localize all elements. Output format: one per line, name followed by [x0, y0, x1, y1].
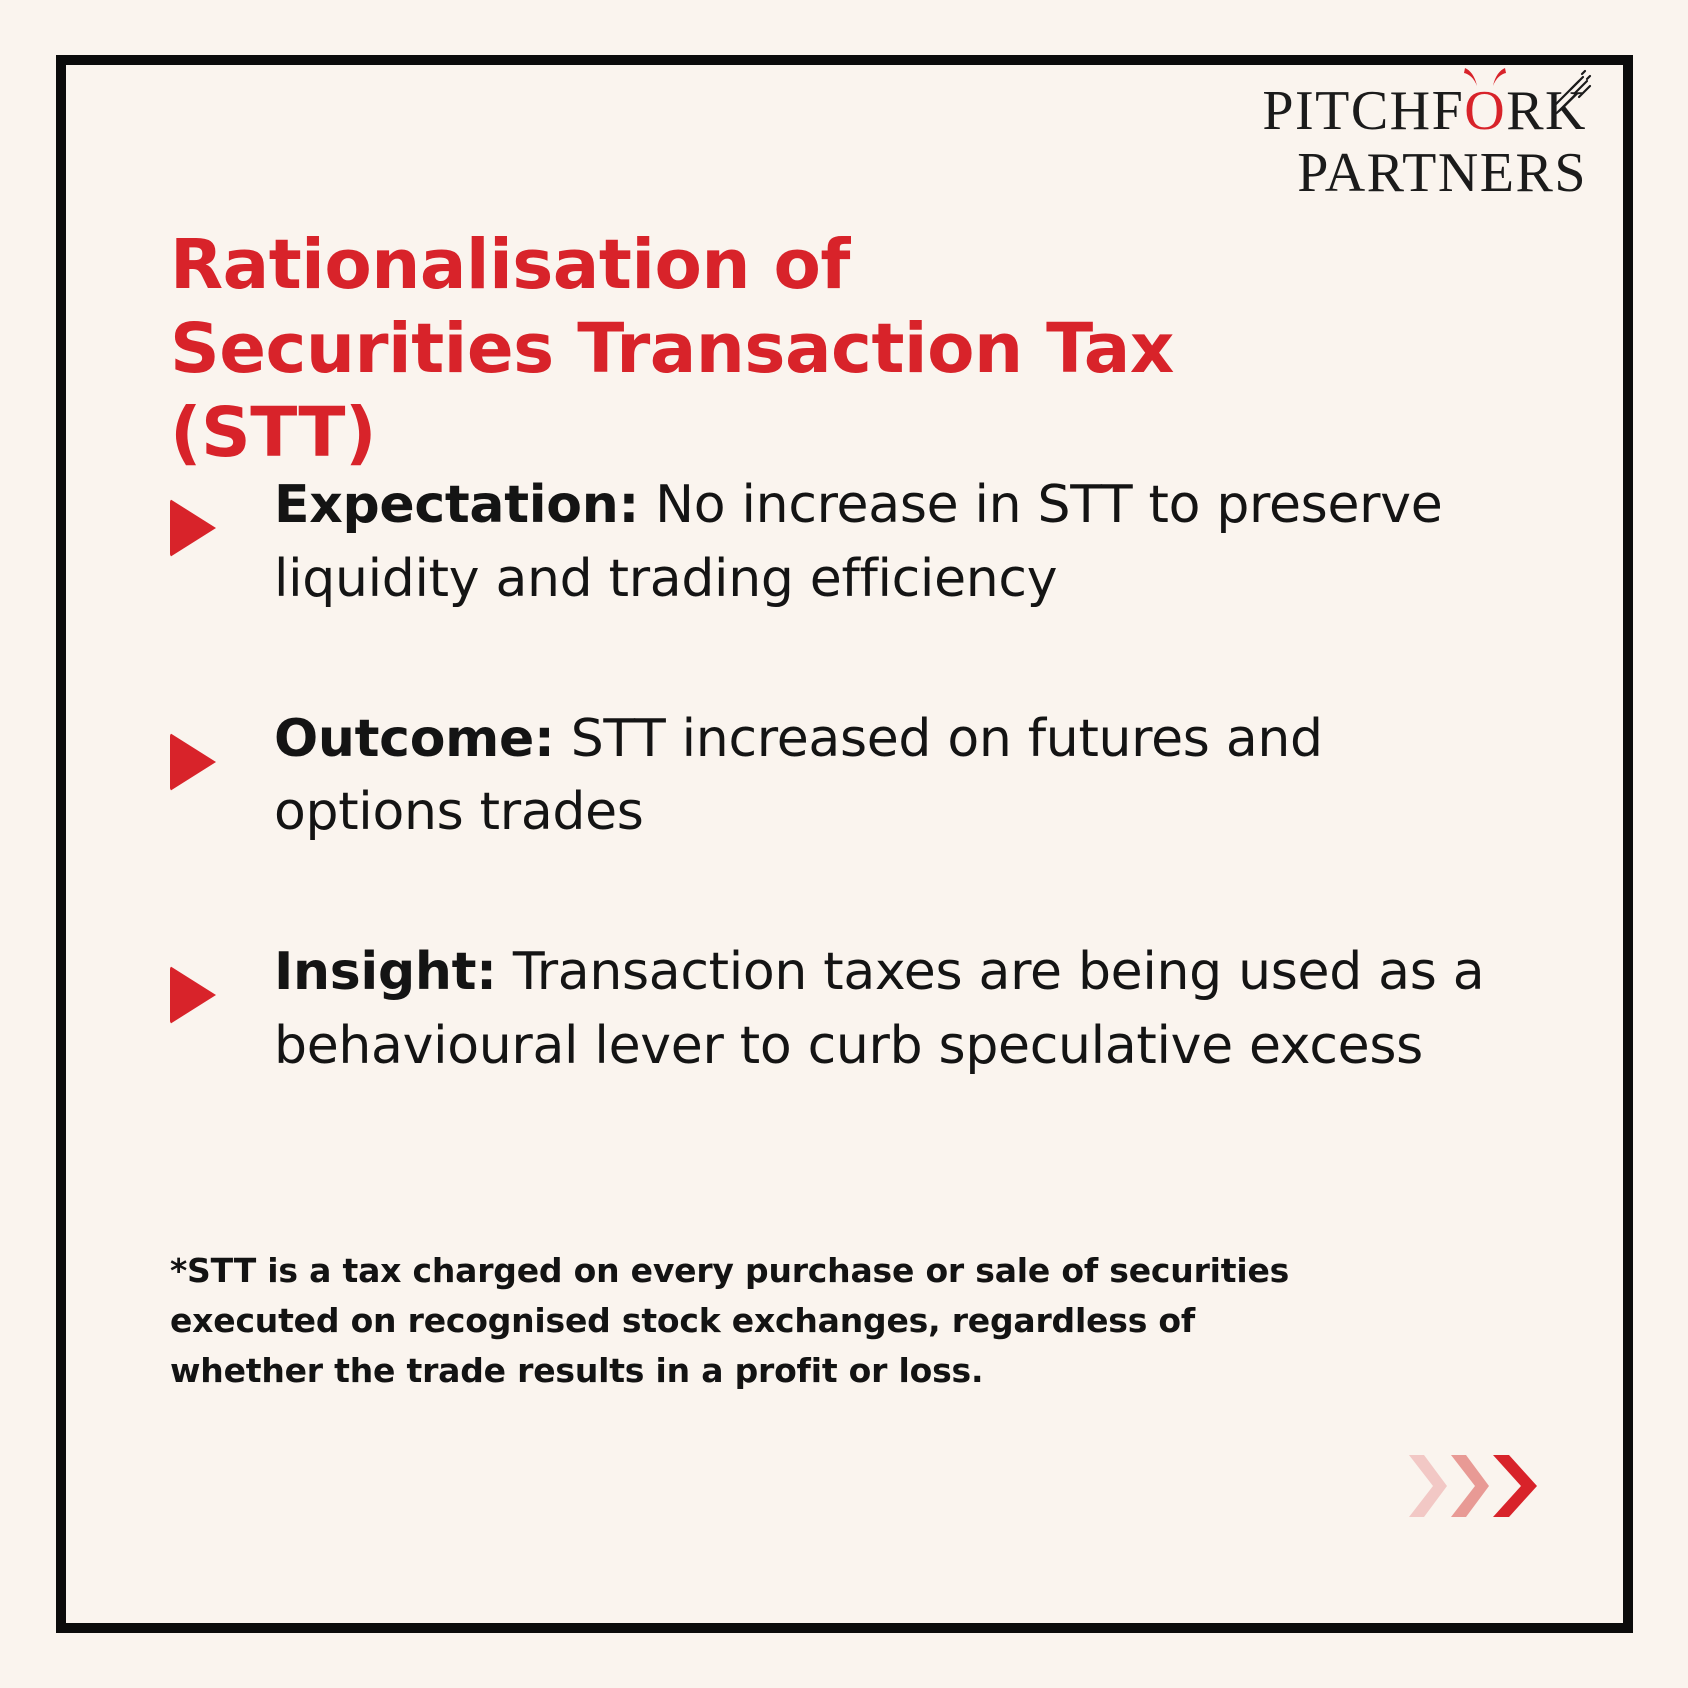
- devil-horns-icon: [1462, 66, 1508, 88]
- footnote-line-1: *STT is a tax charged on every purchase …: [170, 1246, 1310, 1296]
- bullet-lead: Outcome:: [274, 709, 554, 769]
- chevron-right-icon-2: [1449, 1455, 1489, 1517]
- footnote-line-3: whether the trade results in a profit or…: [170, 1346, 1310, 1396]
- triangle-right-icon: [170, 966, 222, 1024]
- bullet-lead: Expectation:: [274, 475, 639, 535]
- logo-text-pre: PITCHF: [1262, 80, 1464, 142]
- logo-line-partners: PARTNERS: [1262, 145, 1587, 201]
- bullet-text: Expectation: No increase in STT to prese…: [274, 469, 1500, 617]
- chevron-right-icon-3: [1491, 1455, 1531, 1517]
- poster-card: PITCHFORK PARTNERS Rationalisation of Se…: [56, 55, 1633, 1633]
- list-item: Outcome: STT increased on futures and op…: [170, 703, 1500, 851]
- triangle-right-icon: [170, 499, 222, 557]
- page-title: Rationalisation of Securities Transactio…: [170, 223, 1230, 476]
- list-item: Expectation: No increase in STT to prese…: [170, 469, 1500, 617]
- bullet-text: Insight: Transaction taxes are being use…: [274, 936, 1500, 1084]
- footnote: *STT is a tax charged on every purchase …: [170, 1246, 1310, 1396]
- footnote-line-2: executed on recognised stock exchanges, …: [170, 1296, 1310, 1346]
- poster-body: PITCHFORK PARTNERS Rationalisation of Se…: [66, 65, 1623, 1623]
- chevron-right-icon-1: [1407, 1455, 1447, 1517]
- logo-line-pitchfork: PITCHFORK: [1262, 83, 1587, 139]
- chevron-group: [1407, 1455, 1531, 1517]
- bullet-lead: Insight:: [274, 942, 497, 1002]
- pitchfork-icon: [1549, 67, 1593, 111]
- list-item: Insight: Transaction taxes are being use…: [170, 936, 1500, 1084]
- pitchfork-partners-logo: PITCHFORK PARTNERS: [1262, 83, 1587, 201]
- bullet-text: Outcome: STT increased on futures and op…: [274, 703, 1500, 851]
- logo-o-letter: O: [1464, 80, 1506, 142]
- triangle-right-icon: [170, 733, 222, 791]
- bullet-list: Expectation: No increase in STT to prese…: [170, 469, 1500, 1084]
- logo-o-with-horns: O: [1464, 83, 1506, 139]
